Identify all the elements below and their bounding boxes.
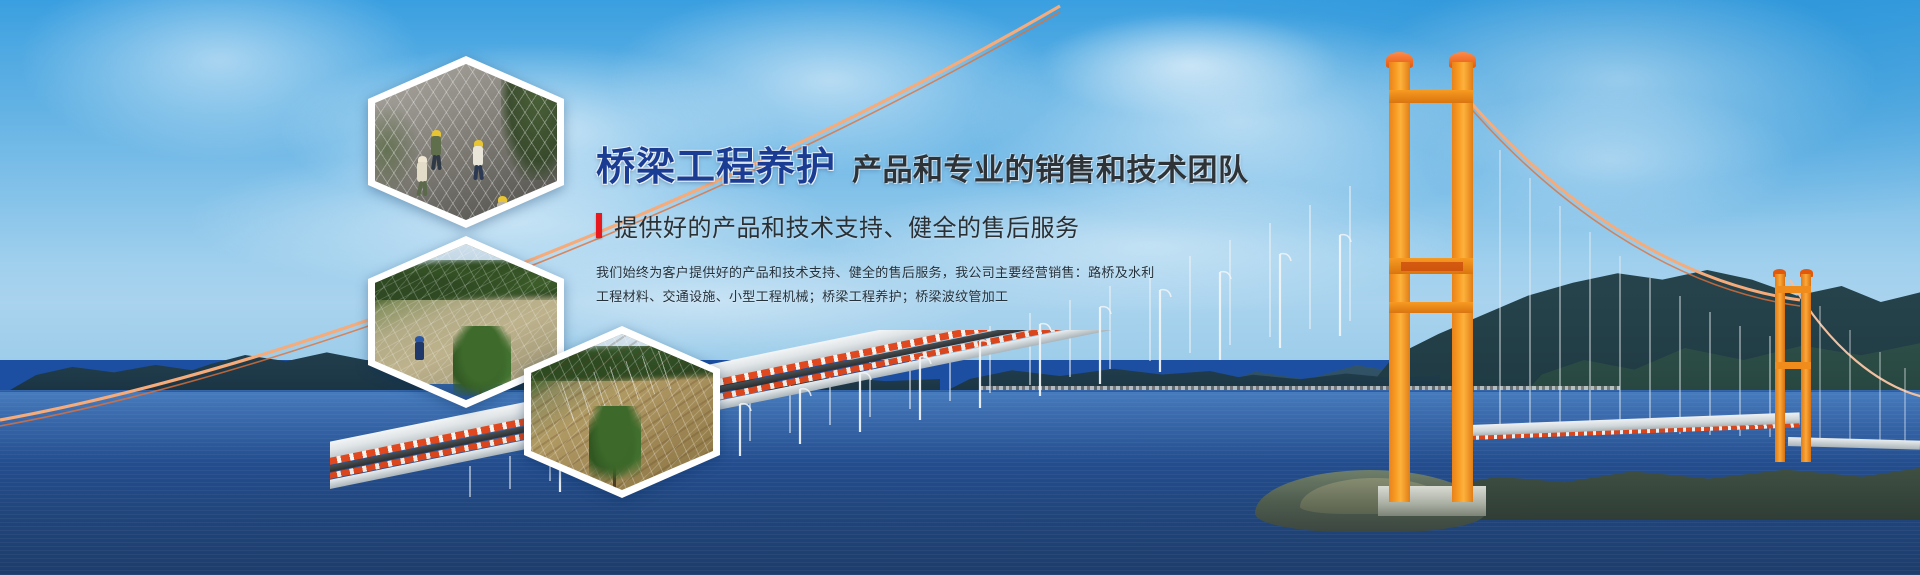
banner-copy: 桥梁工程养护 产品和专业的销售和技术团队 提供好的产品和技术支持、健全的售后服务… bbox=[596, 136, 1236, 309]
headline: 桥梁工程养护 产品和专业的销售和技术团队 bbox=[596, 136, 1236, 192]
hex-image bbox=[375, 64, 557, 220]
tree bbox=[453, 326, 511, 396]
worker-body bbox=[497, 202, 507, 220]
body-line-2: 工程材料、交通设施、小型工程机械；桥梁工程养护；桥梁波纹管加工 bbox=[596, 285, 1236, 309]
worker-body bbox=[473, 146, 483, 166]
rock-block bbox=[501, 212, 549, 220]
hex-image bbox=[531, 334, 713, 490]
hex-photo-slope-mesh-workers[interactable] bbox=[368, 56, 564, 228]
hex-photo-dry-slope-netting[interactable] bbox=[524, 326, 720, 498]
tree bbox=[589, 406, 641, 484]
protective-mesh bbox=[375, 64, 557, 220]
headline-secondary: 产品和专业的销售和技术团队 bbox=[852, 145, 1249, 189]
body-copy: 我们始终为客户提供好的产品和技术支持、健全的售后服务，我公司主要经营销售：路桥及… bbox=[596, 261, 1236, 309]
body-line-1: 我们始终为客户提供好的产品和技术支持、健全的售后服务，我公司主要经营销售：路桥及… bbox=[596, 261, 1236, 285]
hex-frame bbox=[368, 56, 564, 228]
headline-primary: 桥梁工程养护 bbox=[596, 136, 836, 192]
worker-leg bbox=[423, 181, 428, 196]
worker-body bbox=[417, 162, 427, 182]
hex-frame bbox=[524, 326, 720, 498]
accent-bar bbox=[596, 213, 602, 238]
subheadline-text: 提供好的产品和技术支持、健全的售后服务 bbox=[614, 208, 1080, 243]
subheadline: 提供好的产品和技术支持、健全的售后服务 bbox=[596, 208, 1236, 243]
worker bbox=[415, 342, 424, 360]
worker-body bbox=[431, 136, 441, 156]
hero-banner: 桥梁工程养护 产品和专业的销售和技术团队 提供好的产品和技术支持、健全的售后服务… bbox=[0, 0, 1920, 575]
